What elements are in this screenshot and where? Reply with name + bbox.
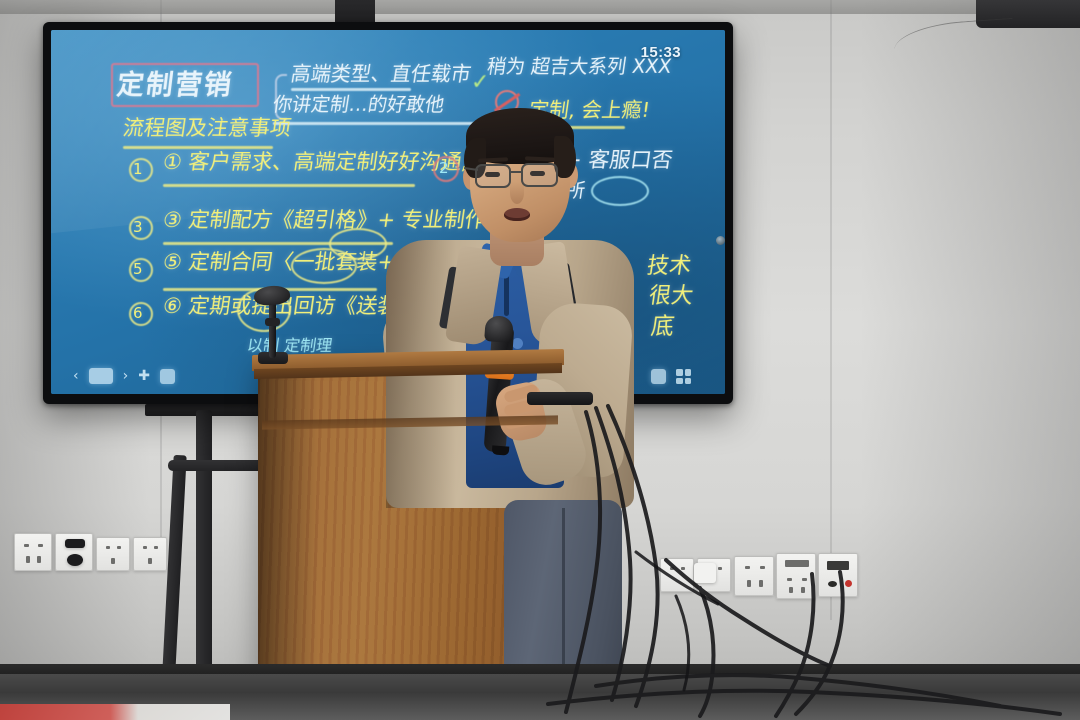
note-bullet-number: 5 [133,262,143,277]
black-control-device[interactable] [527,392,593,405]
power-outlet[interactable] [776,553,816,599]
note-item-6: ⑥ 定期或提出回访《送装》 [162,296,421,317]
presenter [386,108,634,720]
page-thumbnail-icon[interactable] [89,368,113,384]
power-outlet[interactable] [14,533,52,571]
screenshot-scene: 15:33 定制营销 高端类型、直任载市 ✓ 你讲定制…的好敢他 稍为 超吉大系… [0,0,1080,720]
note-branch-3: 稍为 超吉大系列 XXX [486,58,673,77]
power-outlet[interactable] [734,556,774,596]
note-underline [163,184,415,187]
gooseneck-mic-joint [265,318,280,326]
note-flow: 流程图及注意事项 [122,118,293,139]
note-right-3: 很大 [647,286,694,308]
tv-stand-leg [196,410,212,672]
note-bullet-number: 1 [133,162,143,177]
undo-icon[interactable] [160,369,175,384]
ceiling-edge [0,0,1080,14]
note-title: 定制营销 [115,72,234,99]
apps-grid-icon[interactable] [676,369,691,384]
next-page-icon[interactable]: › [123,369,129,383]
note-right-2: 技术 [645,256,692,278]
presenter-mouth [504,208,530,221]
presenter-nose [510,182,524,204]
wall-shadow [860,0,1080,720]
add-page-icon[interactable]: ✚ [138,369,150,383]
power-outlet[interactable] [55,533,93,571]
floor-strip [0,704,230,720]
power-outlet[interactable] [133,537,167,571]
whiteboard-sensor [716,236,725,245]
eyeglasses-right-lens [521,163,558,187]
power-outlet[interactable] [660,558,694,592]
power-outlet[interactable] [96,537,130,571]
shirt-badge [512,338,523,349]
white-plug [694,563,716,583]
eyeglasses-left-lens [475,164,511,188]
network-port-plate[interactable] [818,553,858,597]
note-branch-1: 高端类型、直任载市 [289,64,472,84]
whiteboard-toolbar-right[interactable] [651,369,691,384]
note-underline [291,88,411,91]
sync-icon[interactable] [651,369,666,384]
note-underline [123,146,273,149]
wall-seam [830,0,832,620]
note-circle-emphasis [329,228,387,260]
whiteboard-toolbar-left[interactable]: ‹ › ✚ [73,368,175,384]
eyeglasses-bridge [510,171,523,173]
prev-page-icon[interactable]: ‹ [73,369,79,383]
note-bullet-number: 6 [133,306,143,321]
gooseneck-mic-stem [269,300,276,358]
note-right-4: 底 [649,316,675,339]
note-bullet-number: 3 [133,220,143,235]
microphone-tip [492,445,510,455]
